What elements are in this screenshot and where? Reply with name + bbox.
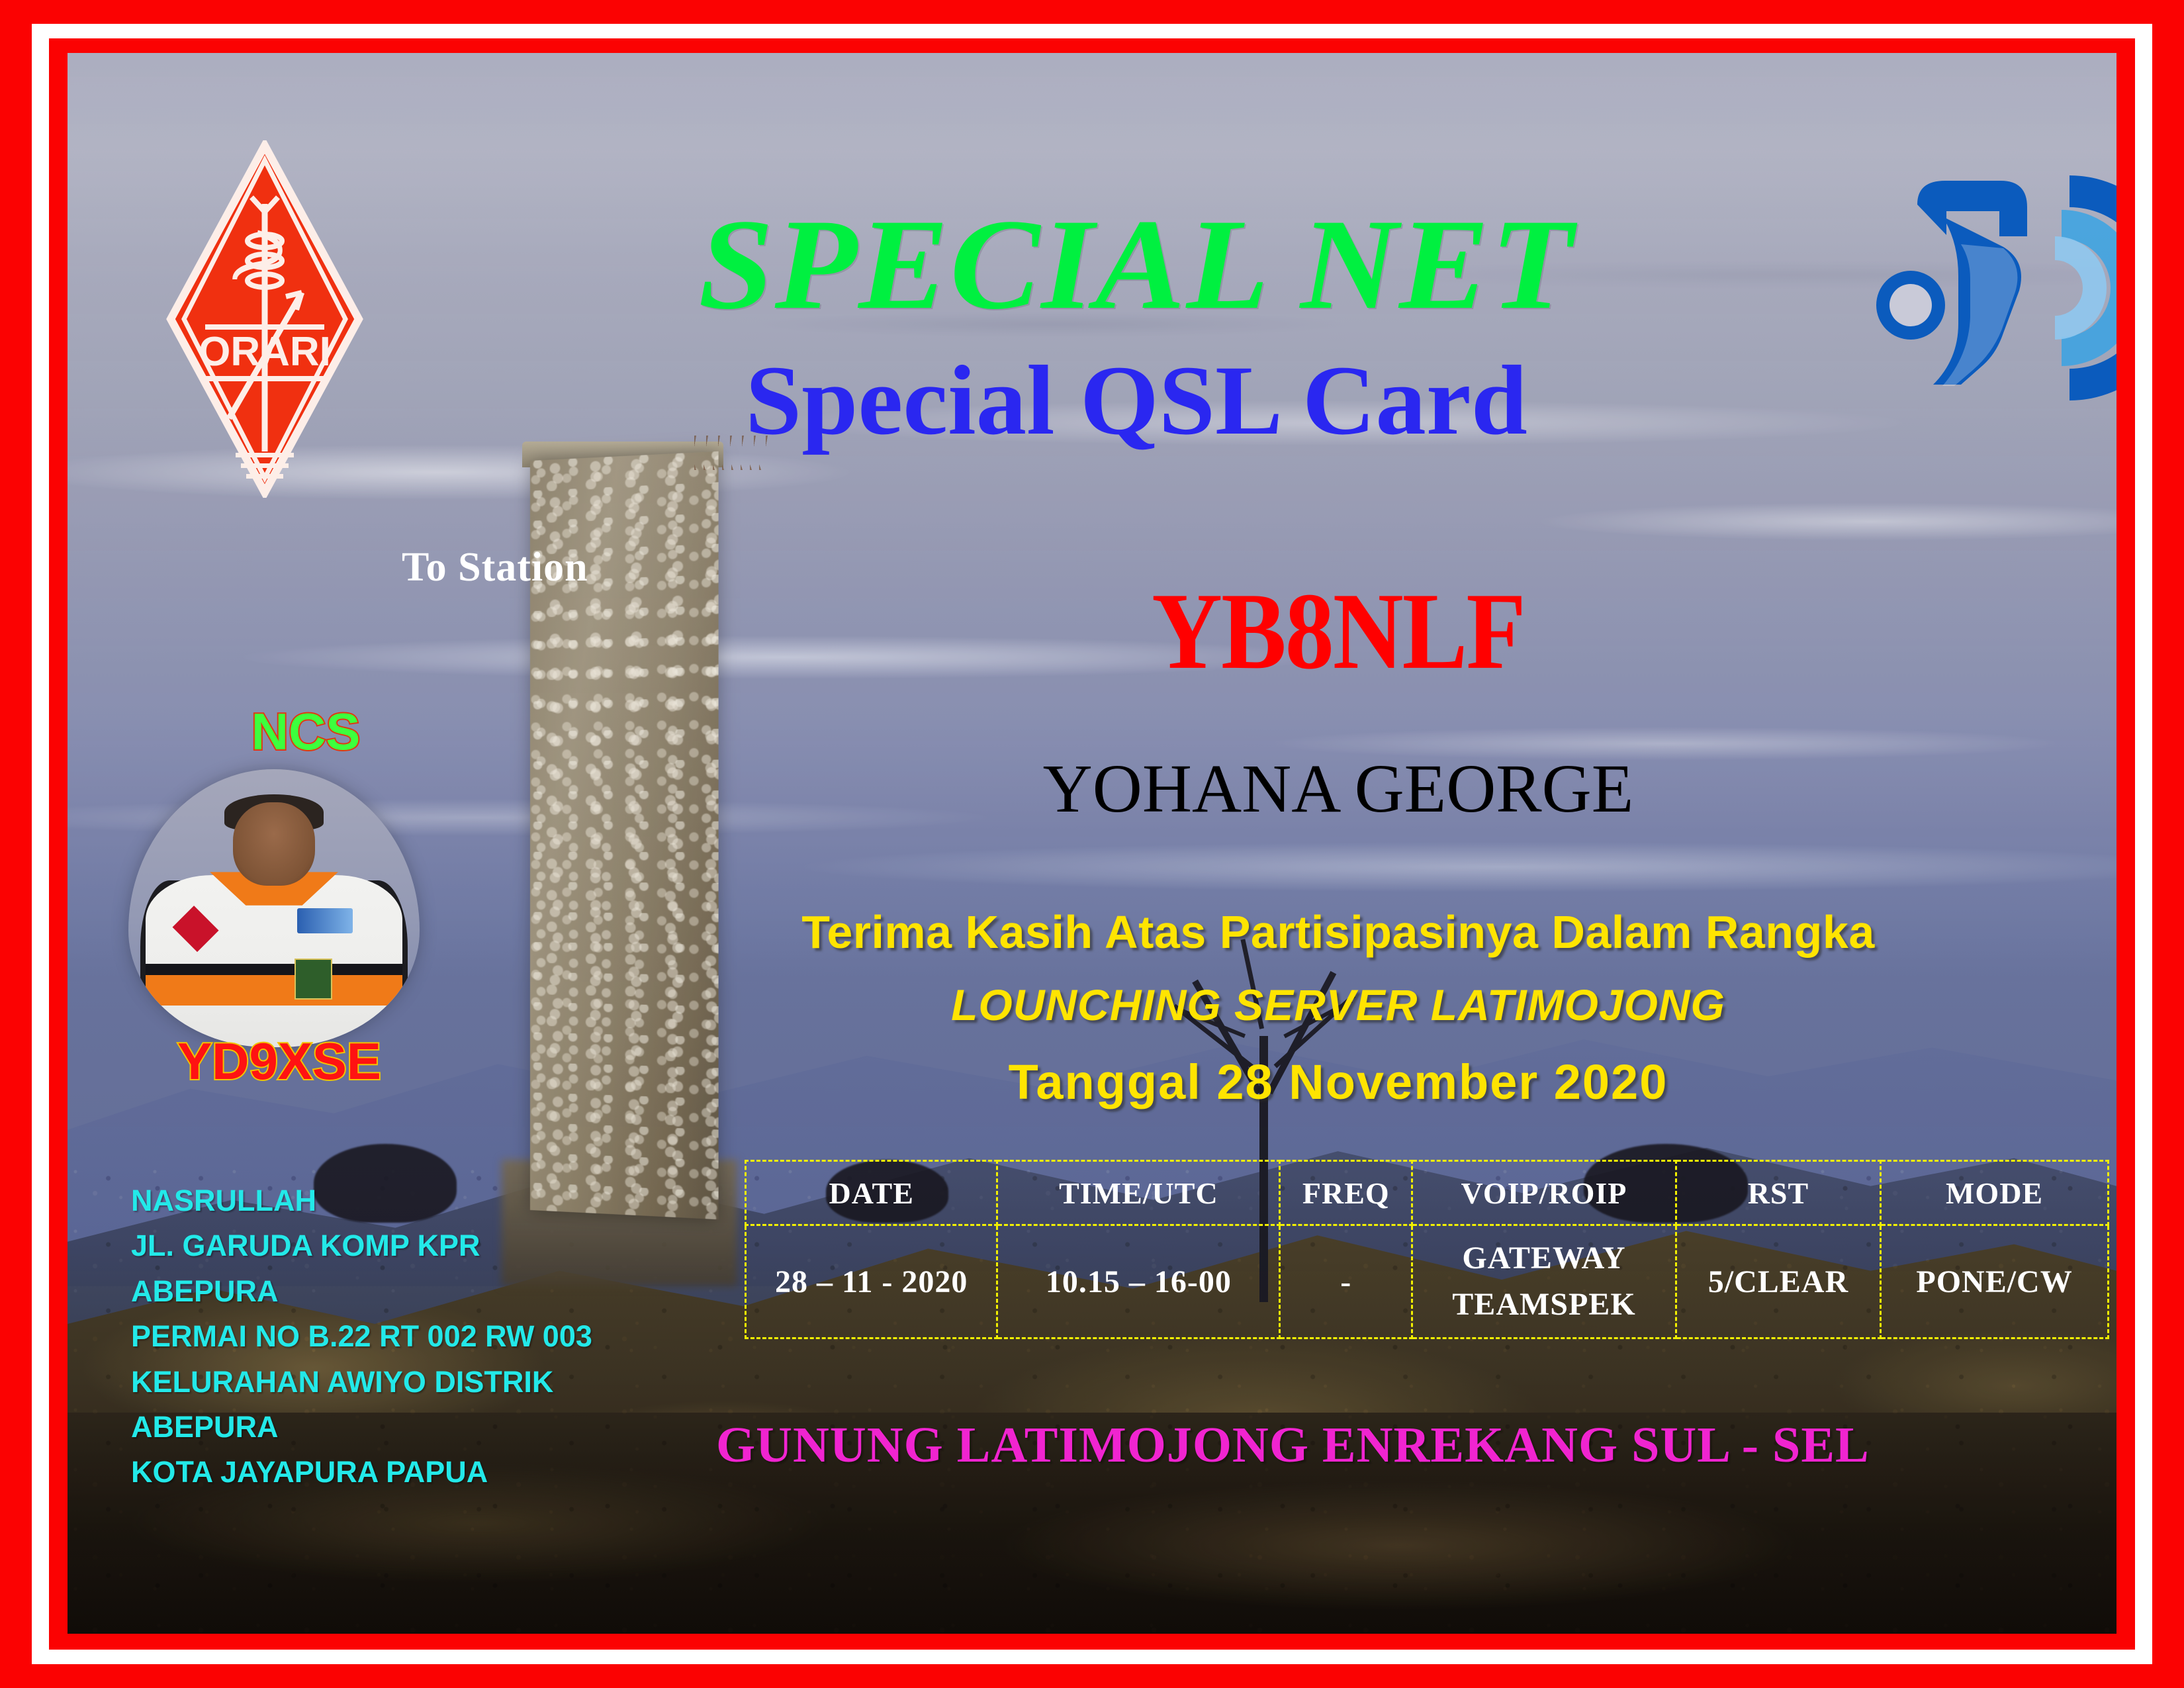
card-photo-area: ORARI (68, 53, 2116, 1634)
table-header-mode: MODE (1881, 1161, 2109, 1225)
address-line: JL. GARUDA KOMP KPR (131, 1223, 687, 1268)
thanks-line-2: LOUNCHING SERVER LATIMOJONG (769, 980, 1907, 1030)
orari-logo: ORARI (165, 140, 364, 498)
table-header-rst: RST (1676, 1161, 1880, 1225)
thanks-line-1: Terima Kasih Atas Partisipasinya Dalam R… (769, 906, 1907, 959)
table-header-date: DATE (746, 1161, 997, 1225)
ncs-operator-photo (128, 769, 420, 1047)
operator-name: YOHANA GEORGE (921, 755, 1755, 823)
ncs-callsign: YD9XSE (147, 1031, 412, 1092)
card-white-frame: ORARI (32, 24, 2152, 1664)
cell-mode: PONE/CW (1881, 1225, 2109, 1338)
table-header-freq: FREQ (1280, 1161, 1412, 1225)
footer-slogan: "AMATIR RADIO ADALAH PROGRESIVE" (147, 1625, 1183, 1634)
mailing-address: NASRULLAH JL. GARUDA KOMP KPR ABEPURA PE… (131, 1178, 687, 1495)
radio-operator-logo (1871, 156, 2116, 420)
cell-rst: 5/CLEAR (1676, 1225, 1880, 1338)
card-inner-red-frame: ORARI (49, 38, 2135, 1650)
cell-freq: - (1280, 1225, 1412, 1338)
qsl-card: ORARI (0, 0, 2184, 1688)
qso-table: DATE TIME/UTC FREQ VOIP/ROIP RST MODE 28… (745, 1160, 2109, 1339)
table-header-row: DATE TIME/UTC FREQ VOIP/ROIP RST MODE (746, 1161, 2109, 1225)
to-station-label: To Station (402, 544, 588, 591)
thanks-line-3: Tanggal 28 November 2020 (769, 1054, 1907, 1110)
address-line: PERMAI NO B.22 RT 002 RW 003 (131, 1314, 687, 1359)
orari-logo-text: ORARI (199, 329, 331, 375)
page-subtitle: Special QSL Card (512, 351, 1761, 450)
address-line: KOTA JAYAPURA PAPUA (131, 1450, 687, 1495)
table-row: 28 – 11 - 2020 10.15 – 16-00 - GATEWAY T… (746, 1225, 2109, 1338)
page-title: SPECIAL NET (500, 200, 1773, 330)
address-line: KELURAHAN AWIYO DISTRIK (131, 1360, 687, 1405)
address-line: ABEPURA (131, 1269, 687, 1314)
table-header-voip: VOIP/ROIP (1412, 1161, 1676, 1225)
location-label: GUNUNG LATIMOJONG ENREKANG SUL - SEL (716, 1417, 1974, 1474)
cell-voip-line-2: TEAMSPEK (1414, 1282, 1674, 1328)
cell-date: 28 – 11 - 2020 (746, 1225, 997, 1338)
table-header-time: TIME/UTC (997, 1161, 1280, 1225)
station-callsign: YB8NLF (921, 577, 1755, 686)
footer-web-address: Address : amatir.latimojong.com (1325, 1625, 2068, 1634)
cell-time: 10.15 – 16-00 (997, 1225, 1280, 1338)
cell-voip-line-1: GATEWAY (1414, 1235, 1674, 1282)
address-line: NASRULLAH (131, 1178, 687, 1223)
address-line: ABEPURA (131, 1405, 687, 1450)
cell-voip: GATEWAY TEAMSPEK (1412, 1225, 1676, 1338)
ncs-label: NCS (193, 702, 418, 762)
